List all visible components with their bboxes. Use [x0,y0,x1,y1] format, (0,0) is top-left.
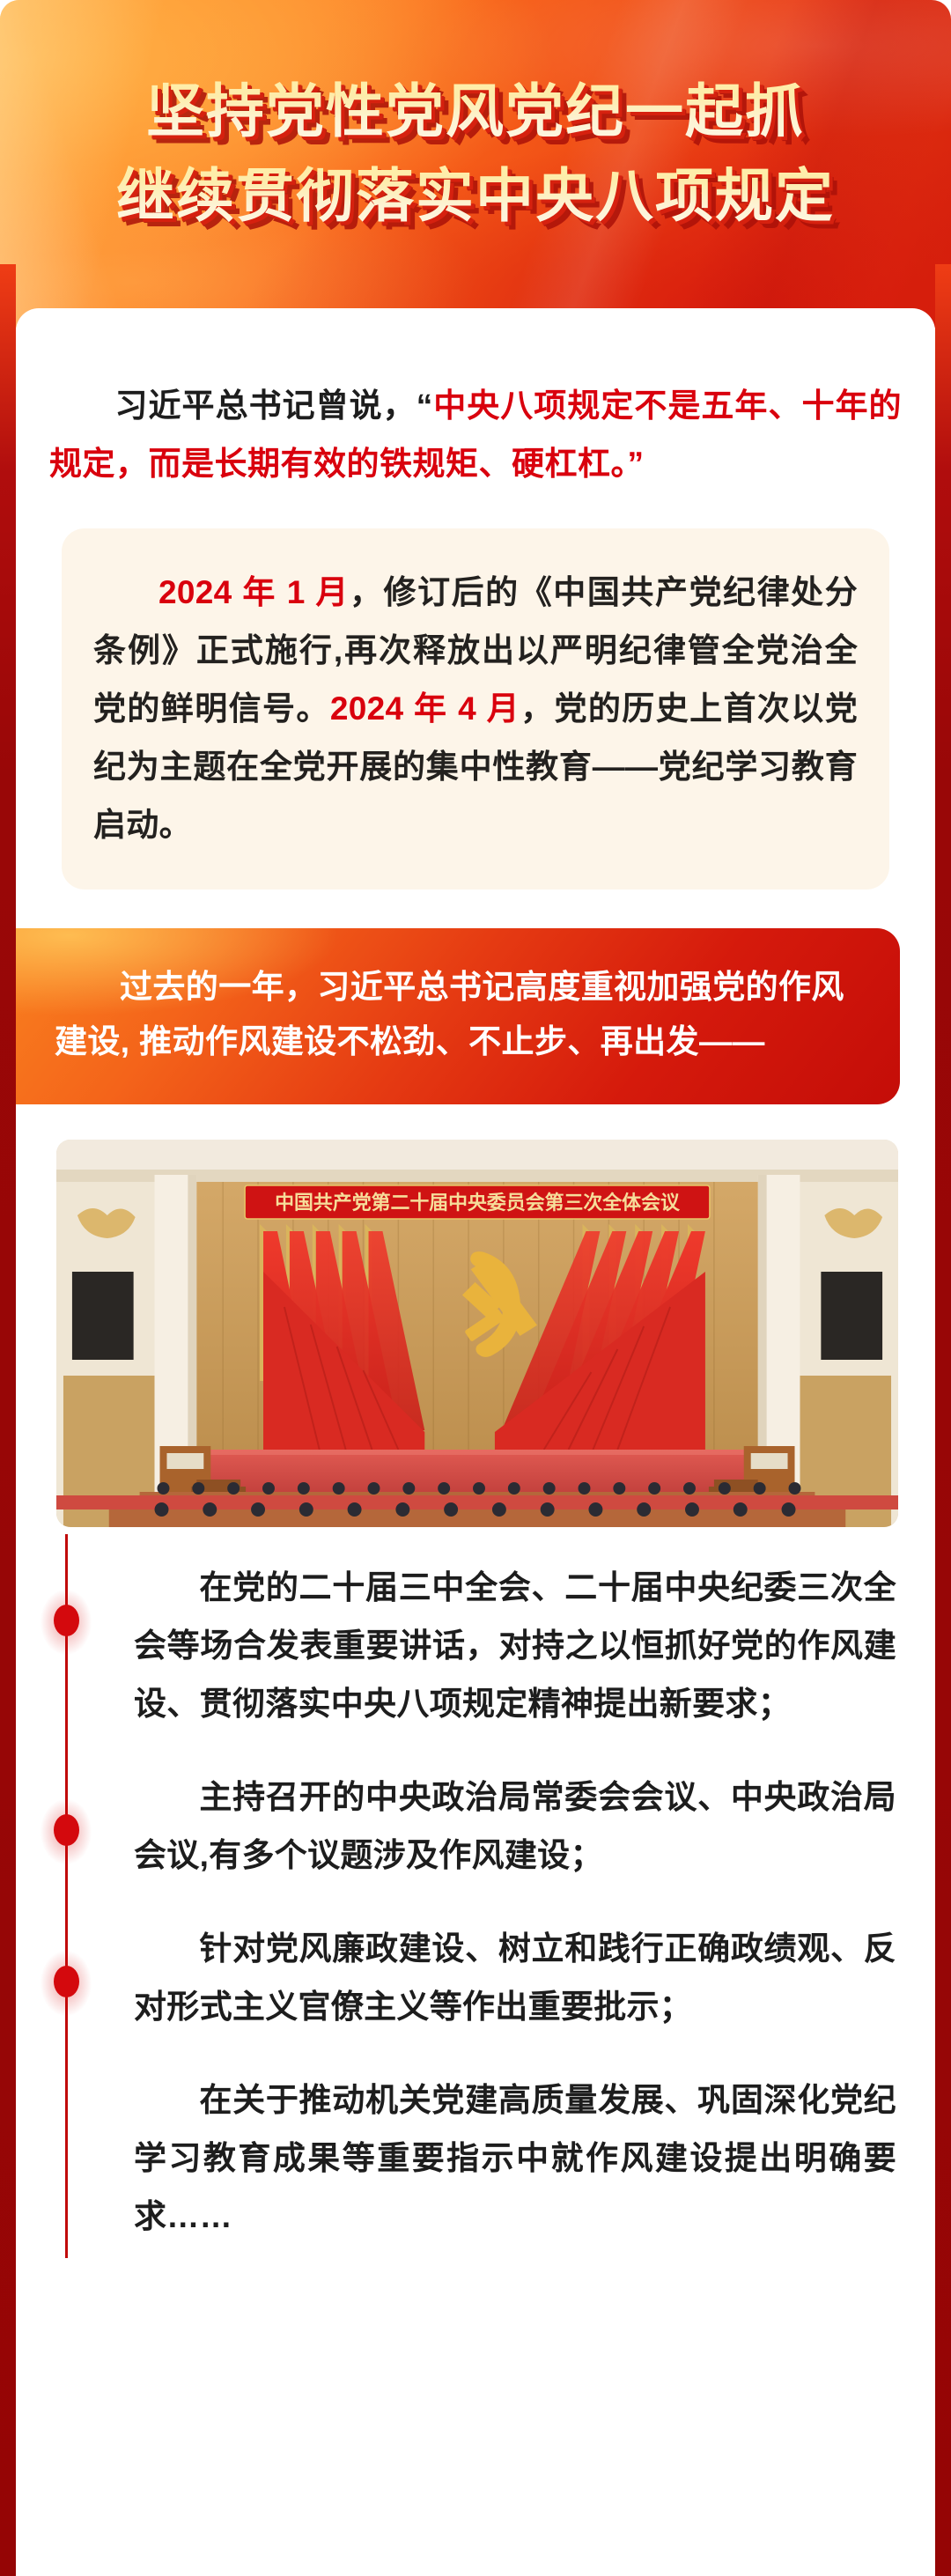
list-item: 主持召开的中央政治局常委会会议、中央政治局会议,有多个议题涉及作风建设； [16,1768,896,1885]
bullet-text: 在关于推动机关党建高质量发展、巩固深化党纪学习教育成果等重要指示中就作风建设提出… [134,2071,896,2246]
quote-lead-text: 习近平总书记曾说，“ [114,388,433,424]
cream-date-2: 2024 年 4 月 [330,690,520,727]
photo-banner-text: 中国共产党第二十届中央委员会第三次全体会议 [275,1192,681,1214]
red-banner-text: 过去的一年，习近平总书记高度重视加强党的作风建设, 推动作风建设不松劲、不止步、… [55,960,861,1069]
infographic-poster: 坚持党性党风党纪一起抓 继续贯彻落实中央八项规定 习近平总书记曾说，“中央八项规… [0,0,951,2576]
conference-hall-illustration: 中国共产党第二十届中央委员会第三次全体会议 [56,1140,898,1527]
red-banner-copy: 过去的一年，习近平总书记高度重视加强党的作风建设, 推动作风建设不松劲、不止步、… [55,969,844,1059]
bullet-timeline: 在党的二十届三中全会、二十届中央纪委三次全会等场合发表重要讲话，对持之以恒抓好党… [16,1559,935,2299]
list-item: 针对党风廉政建设、树立和践行正确政绩观、反对形式主义官僚主义等作出重要批示； [16,1920,896,2036]
list-item: 在党的二十届三中全会、二十届中央纪委三次全会等场合发表重要讲话，对持之以恒抓好党… [16,1559,896,1733]
bullet-copy: 在党的二十届三中全会、二十届中央纪委三次全会等场合发表重要讲话，对持之以恒抓好党… [134,1569,896,1722]
conference-photo: 中国共产党第二十届中央委员会第三次全体会议 [56,1140,898,1527]
page-title: 坚持党性党风党纪一起抓 继续贯彻落实中央八项规定 [0,69,951,238]
red-highlight-banner: 过去的一年，习近平总书记高度重视加强党的作风建设, 推动作风建设不松劲、不止步、… [16,928,900,1104]
right-red-rail [935,264,951,2576]
title-line-1: 坚持党性党风党纪一起抓 [0,69,951,153]
bullet-text: 主持召开的中央政治局常委会会议、中央政治局会议,有多个议题涉及作风建设； [134,1768,896,1885]
left-red-rail [0,264,16,2576]
bullet-text: 在党的二十届三中全会、二十届中央纪委三次全会等场合发表重要讲话，对持之以恒抓好党… [134,1559,896,1733]
title-line-2: 继续贯彻落实中央八项规定 [0,153,951,238]
timeline-cream-card: 2024 年 1 月，修订后的《中国共产党纪律处分条例》正式施行,再次释放出以严… [62,528,889,889]
content-panel: 习近平总书记曾说，“中央八项规定不是五年、十年的规定，而是长期有效的铁规矩、硬杠… [16,308,935,2576]
cream-date-1: 2024 年 1 月 [158,574,350,610]
bullet-dot-icon [54,1814,79,1846]
list-item: 在关于推动机关党建高质量发展、巩固深化党纪学习教育成果等重要指示中就作风建设提出… [16,2071,896,2246]
bullet-dot-icon [54,1605,79,1636]
quote-paragraph: 习近平总书记曾说，“中央八项规定不是五年、十年的规定，而是长期有效的铁规矩、硬杠… [49,377,902,493]
bullet-copy: 主持召开的中央政治局常委会会议、中央政治局会议,有多个议题涉及作风建设； [134,1779,896,1873]
header-banner: 坚持党性党风党纪一起抓 继续贯彻落实中央八项规定 [0,0,951,328]
bullet-copy: 在关于推动机关党建高质量发展、巩固深化党纪学习教育成果等重要指示中就作风建设提出… [134,2082,896,2234]
bullet-copy: 针对党风廉政建设、树立和践行正确政绩观、反对形式主义官僚主义等作出重要批示； [134,1930,896,2025]
bullet-dot-icon [54,1966,79,1997]
bullet-text: 针对党风廉政建设、树立和践行正确政绩观、反对形式主义官僚主义等作出重要批示； [134,1920,896,2036]
cream-card-paragraph: 2024 年 1 月，修订后的《中国共产党纪律处分条例》正式施行,再次释放出以严… [93,564,858,854]
